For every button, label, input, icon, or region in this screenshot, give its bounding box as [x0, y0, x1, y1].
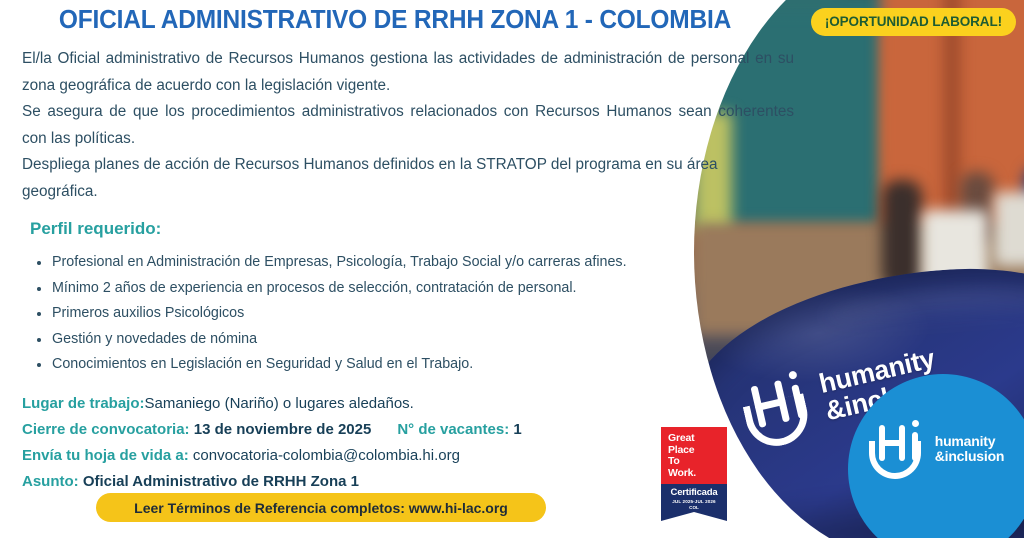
job-details: Lugar de trabajo:Samaniego (Nariño) o lu…: [22, 391, 662, 495]
profile-heading: Perfil requerido:: [30, 219, 161, 239]
gptw-certified-label: Certificada: [663, 487, 725, 498]
detail-row-subject: Asunto: Oficial Administrativo de RRHH Z…: [22, 469, 662, 495]
great-place-to-work-badge: Great Place To Work. Certificada JUL 202…: [661, 427, 727, 512]
intro-paragraph-3: Despliega planes de acción de Recursos H…: [22, 152, 794, 205]
gptw-bottom-block: Certificada JUL 2025-JUL 2026 COL: [661, 484, 727, 512]
detail-row-workplace: Lugar de trabajo:Samaniego (Nariño) o lu…: [22, 391, 662, 417]
hi-hand-smile-icon: [866, 417, 926, 481]
workplace-label: Lugar de trabajo:: [22, 395, 145, 412]
status-badge: ¡OPORTUNIDAD LABORAL!: [811, 8, 1016, 36]
gptw-line-1: Great: [668, 433, 721, 445]
hi-logo-line-2: &inclusion: [935, 449, 1005, 464]
intro-paragraph-1: El/la Oficial administrativo de Recursos…: [22, 46, 794, 99]
read-terms-button[interactable]: Leer Términos de Referencia completos: w…: [96, 493, 546, 522]
closing-value: 13 de noviembre de 2025: [194, 421, 372, 438]
gptw-dates: JUL 2025-JUL 2026: [663, 499, 725, 504]
list-item: Profesional en Administración de Empresa…: [34, 250, 734, 276]
hi-logo-line-1: humanity: [935, 434, 1005, 449]
list-item: Conocimientos en Legislación en Segurida…: [34, 352, 734, 378]
list-item: Mínimo 2 años de experiencia en procesos…: [34, 276, 734, 302]
closing-label: Cierre de convocatoria:: [22, 421, 190, 438]
workplace-value: Samaniego (Nariño) o lugares aledaños.: [145, 395, 414, 412]
photo-chair: [994, 192, 1024, 266]
gptw-line-4: Work.: [668, 468, 721, 480]
list-item: Primeros auxilios Psicológicos: [34, 301, 734, 327]
vacancies-label: N° de vacantes:: [397, 421, 509, 438]
subject-value: Oficial Administrativo de RRHH Zona 1: [83, 473, 359, 490]
page-title: OFICIAL ADMINISTRATIVO DE RRHH ZONA 1 - …: [16, 6, 774, 35]
gptw-top-block: Great Place To Work.: [661, 427, 727, 484]
subject-label: Asunto:: [22, 473, 79, 490]
job-posting-poster: humanity &inclusion humanity &inclusion …: [0, 0, 1024, 538]
gptw-country: COL: [663, 505, 725, 510]
detail-row-closing: Cierre de convocatoria: 13 de noviembre …: [22, 417, 662, 443]
cv-label: Envía tu hoja de vida a:: [22, 447, 189, 464]
vacancies-value: 1: [513, 421, 521, 438]
detail-row-email: Envía tu hoja de vida a: convocatoria-co…: [22, 443, 662, 469]
cv-email-value[interactable]: convocatoria-colombia@colombia.hi.org: [193, 447, 460, 464]
profile-requirements-list: Profesional en Administración de Empresa…: [34, 250, 734, 378]
hi-logo-text: humanity &inclusion: [935, 434, 1005, 464]
list-item: Gestión y novedades de nómina: [34, 327, 734, 353]
intro-paragraphs: El/la Oficial administrativo de Recursos…: [22, 46, 794, 205]
intro-paragraph-2: Se asegura de que los procedimientos adm…: [22, 99, 794, 152]
